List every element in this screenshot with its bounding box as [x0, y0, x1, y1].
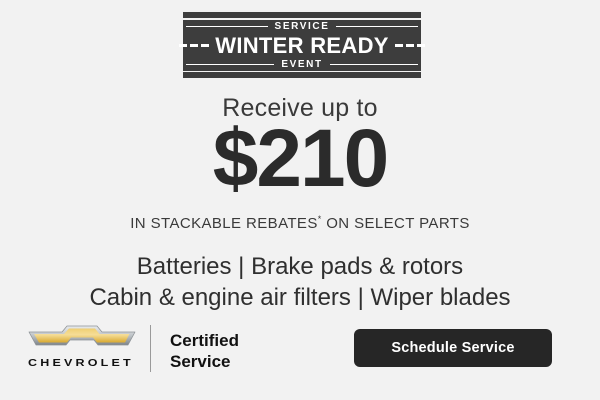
badge-service-row: SERVICE [183, 22, 421, 32]
rebates-main: IN STACKABLE REBATES [130, 215, 318, 232]
rule-right [330, 64, 418, 65]
badge-body: SERVICE WINTER READY EVENT [183, 20, 421, 71]
rule-right [336, 26, 418, 27]
badge-event-row: EVENT [183, 60, 421, 70]
certified-service-label: Certified Service [170, 330, 239, 373]
rebates-tail: ON SELECT PARTS [322, 215, 470, 232]
promo-banner: SERVICE WINTER READY EVENT Receive up [0, 0, 600, 400]
certified-line-2: Service [170, 351, 239, 372]
dashes-left-icon [179, 44, 209, 47]
winter-ready-event-badge: SERVICE WINTER READY EVENT [183, 12, 421, 78]
bowtie-wrap [28, 322, 136, 349]
offer-amount: $210 [0, 118, 600, 200]
logo-divider [150, 325, 151, 372]
product-line-2: Cabin & engine air filters | Wiper blade… [0, 283, 600, 314]
badge-top-label: SERVICE [268, 22, 337, 32]
badge-bottom-label: EVENT [274, 60, 329, 70]
badge-bottom-bar [183, 72, 421, 78]
product-list: Batteries | Brake pads & rotors Cabin & … [0, 252, 600, 313]
product-line-1: Batteries | Brake pads & rotors [0, 252, 600, 283]
certified-line-1: Certified [170, 330, 239, 351]
schedule-service-button[interactable]: Schedule Service [354, 329, 552, 367]
chevrolet-bowtie-icon [28, 322, 136, 349]
offer-rebates-text: IN STACKABLE REBATES* ON SELECT PARTS [0, 214, 600, 232]
badge-title: WINTER READY [215, 35, 389, 57]
rule-left [186, 64, 274, 65]
rule-left [186, 26, 268, 27]
chevrolet-wordmark: CHEVROLET [28, 357, 134, 368]
chevrolet-certified-service-logo [28, 322, 136, 349]
badge-title-row: WINTER READY [183, 32, 421, 60]
footer: CHEVROLET Certified Service Schedule Ser… [0, 318, 600, 380]
dashes-right-icon [395, 44, 425, 47]
